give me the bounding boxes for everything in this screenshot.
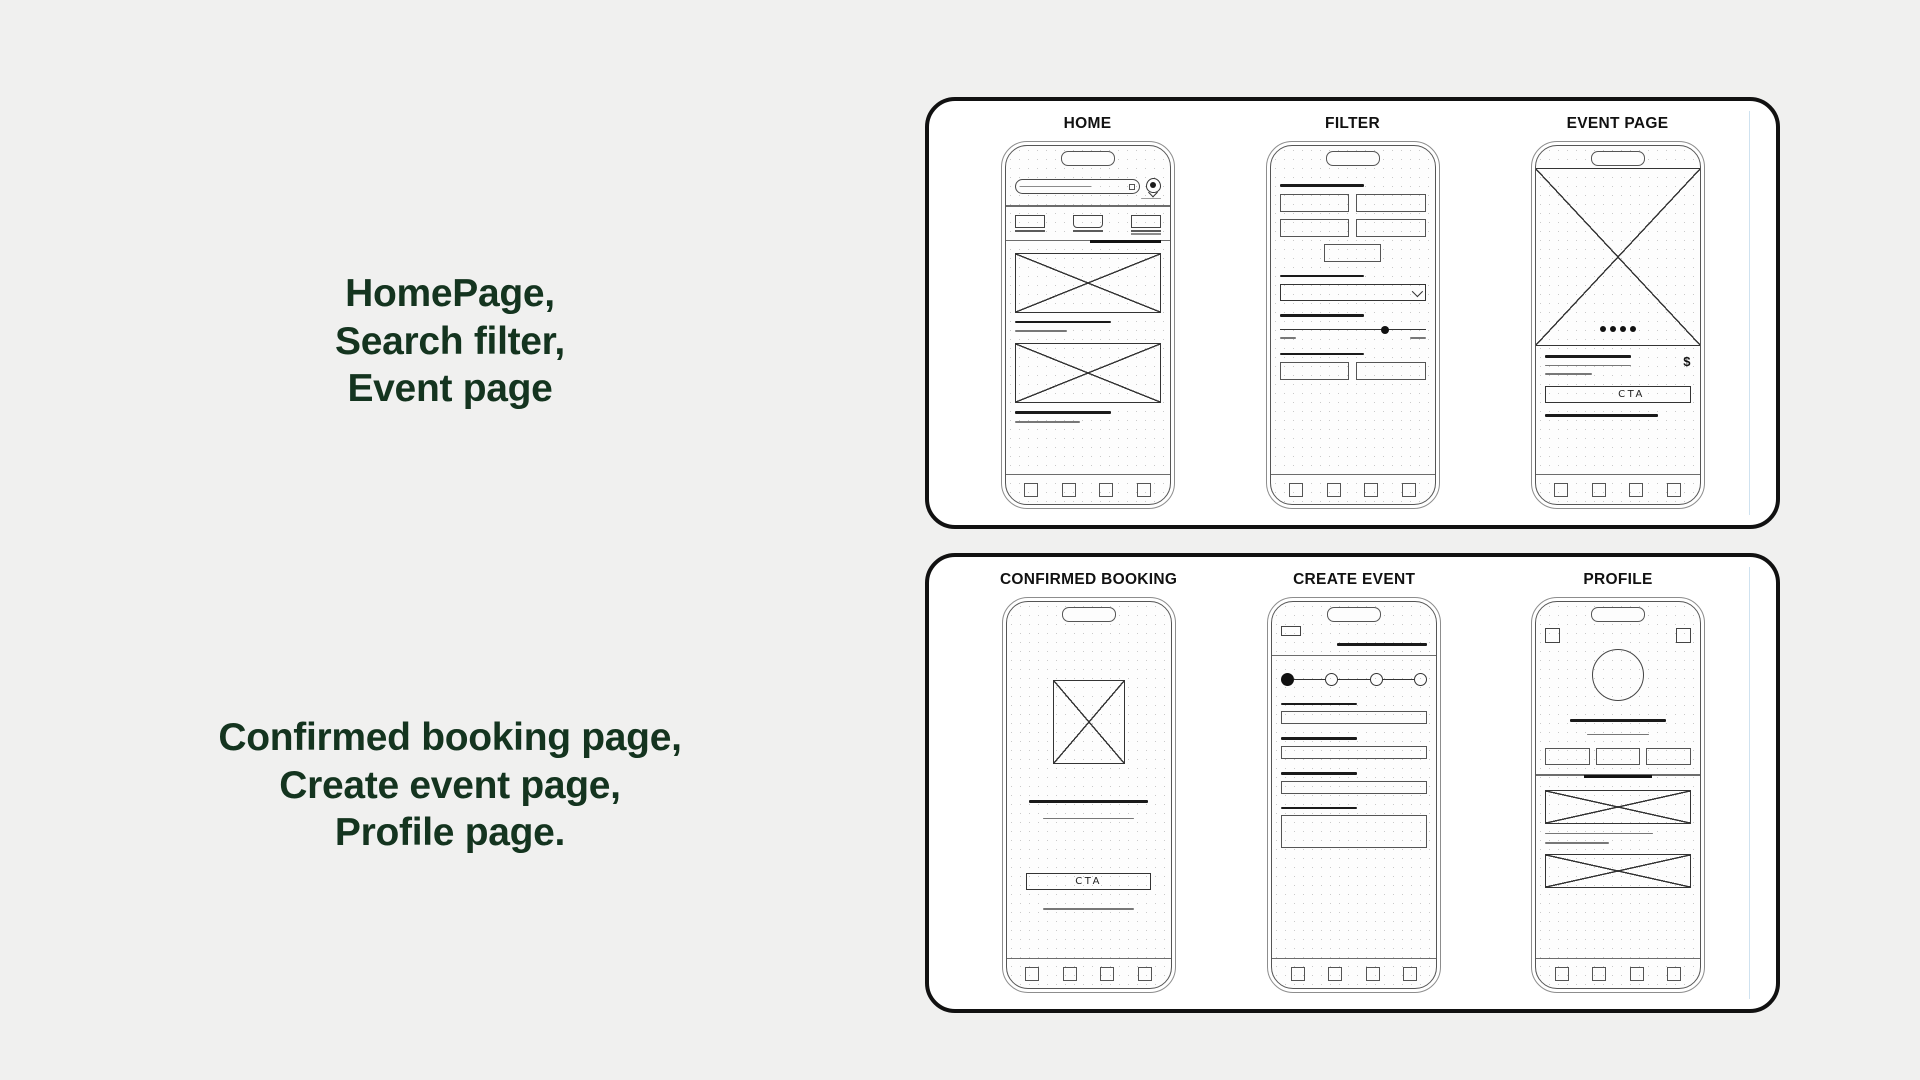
filter-actions	[1280, 362, 1426, 380]
phone-mockup-filter	[1266, 141, 1440, 509]
frame-event-page: EVENT PAGE	[1531, 115, 1705, 509]
frame-title: EVENT PAGE	[1567, 115, 1669, 133]
stat-box[interactable]	[1545, 748, 1590, 765]
field-label	[1281, 772, 1357, 775]
profile-tab-icon[interactable]	[1667, 967, 1681, 981]
carousel-dot[interactable]	[1630, 326, 1636, 332]
bottom-tabbar	[1006, 474, 1170, 504]
image-placeholder	[1536, 168, 1700, 346]
category-row	[1015, 215, 1161, 235]
image-placeholder	[1015, 343, 1161, 403]
category-label	[1015, 230, 1045, 232]
list-item[interactable]	[1545, 790, 1691, 845]
search-tab-icon[interactable]	[1592, 483, 1606, 497]
image-placeholder	[1545, 854, 1691, 888]
wireframe-panel-bottom: CONFIRMED BOOKING CTA	[925, 553, 1780, 1013]
carousel-dots[interactable]	[1536, 326, 1700, 332]
filter-heading	[1280, 275, 1365, 278]
chevron-down-icon	[1411, 286, 1422, 297]
frame-title: HOME	[1064, 115, 1112, 133]
location-pin-icon[interactable]	[1146, 178, 1161, 195]
chip-row	[1280, 219, 1426, 237]
cta-button[interactable]: CTA	[1026, 873, 1152, 890]
home-tab-icon[interactable]	[1555, 967, 1569, 981]
stepper-step[interactable]	[1325, 673, 1338, 686]
divider	[1272, 655, 1436, 656]
list-item[interactable]	[1545, 854, 1691, 888]
caption-line: Create event page,	[0, 762, 900, 810]
bookings-tab-icon[interactable]	[1630, 967, 1644, 981]
phone-notch	[1061, 151, 1115, 166]
bottom-tabbar	[1272, 958, 1436, 988]
phone-notch	[1327, 607, 1381, 622]
filter-dropdown[interactable]	[1280, 284, 1426, 301]
back-button[interactable]	[1281, 626, 1301, 636]
home-tab-icon[interactable]	[1291, 967, 1305, 981]
settings-icon[interactable]	[1545, 628, 1560, 643]
phone-notch	[1591, 151, 1645, 166]
search-placeholder-line	[1020, 186, 1091, 188]
stepper-step[interactable]	[1370, 673, 1383, 686]
active-category-underline	[1090, 240, 1160, 243]
phone-notch	[1062, 607, 1116, 622]
filter-chip[interactable]	[1356, 219, 1426, 237]
search-tab-icon[interactable]	[1327, 483, 1341, 497]
list-item[interactable]	[1015, 343, 1161, 422]
caption-line: Event page	[0, 365, 900, 413]
home-tab-icon[interactable]	[1025, 967, 1039, 981]
stepper-step[interactable]	[1414, 673, 1427, 686]
confirmation-meta	[1043, 818, 1134, 820]
chip-row	[1280, 194, 1426, 212]
phone-mockup-confirmed: CTA	[1002, 597, 1176, 993]
bottom-tabbar	[1536, 958, 1700, 988]
active-tab-indicator	[1584, 775, 1651, 778]
cta-row: CTA	[1545, 386, 1691, 403]
menu-icon[interactable]	[1676, 628, 1691, 643]
stepper-step-active[interactable]	[1281, 673, 1294, 686]
caption-line: Confirmed booking page,	[0, 714, 900, 762]
category-sublabel	[1131, 233, 1161, 235]
event-header-row: $	[1545, 355, 1691, 375]
bookings-tab-icon[interactable]	[1364, 483, 1378, 497]
frame-title: CONFIRMED BOOKING	[1000, 571, 1177, 589]
slider-min-label	[1280, 337, 1296, 339]
bookings-tab-icon[interactable]	[1099, 483, 1113, 497]
phone-notch	[1326, 151, 1380, 166]
frame-title: PROFILE	[1583, 571, 1652, 589]
frame-create-event: CREATE EVENT	[1267, 571, 1441, 993]
category-item[interactable]	[1073, 215, 1103, 235]
profile-name	[1570, 719, 1666, 722]
field-label	[1281, 703, 1357, 706]
category-label	[1073, 230, 1103, 232]
search-icon[interactable]	[1129, 184, 1135, 190]
list-item[interactable]	[1015, 253, 1161, 332]
search-tab-icon[interactable]	[1592, 967, 1606, 981]
stats-row	[1545, 748, 1691, 765]
profile-tab-icon[interactable]	[1138, 967, 1152, 981]
search-tab-icon[interactable]	[1063, 967, 1077, 981]
event-meta	[1545, 373, 1592, 375]
field-label	[1281, 807, 1357, 810]
text-input[interactable]	[1281, 746, 1427, 759]
wireframe-panel-top: HOME	[925, 97, 1780, 529]
caption-block-2: Confirmed booking page, Create event pag…	[0, 714, 900, 857]
page-title	[1337, 643, 1428, 646]
text-input[interactable]	[1281, 711, 1427, 724]
item-meta	[1545, 842, 1609, 844]
range-slider[interactable]	[1280, 325, 1426, 335]
caption-line: Profile page.	[0, 809, 900, 857]
card-meta	[1015, 330, 1068, 332]
phone-mockup-create-event	[1267, 597, 1441, 993]
event-title	[1545, 355, 1631, 358]
image-placeholder	[1053, 680, 1125, 764]
slider-knob[interactable]	[1381, 326, 1389, 334]
profile-header-row	[1545, 628, 1691, 643]
filter-heading	[1280, 184, 1365, 187]
bottom-tabbar	[1271, 474, 1435, 504]
profile-tab-icon[interactable]	[1403, 967, 1417, 981]
filter-heading	[1280, 353, 1365, 356]
text-input[interactable]	[1281, 781, 1427, 794]
search-tab-icon[interactable]	[1328, 967, 1342, 981]
item-title	[1545, 833, 1653, 835]
footer-note	[1043, 908, 1134, 910]
frame-profile: PROFILE	[1531, 571, 1705, 993]
category-label	[1131, 230, 1161, 232]
field-label	[1281, 737, 1357, 740]
phone-mockup-profile	[1531, 597, 1705, 993]
filter-chip[interactable]	[1280, 194, 1350, 212]
caption-line: HomePage,	[0, 270, 900, 318]
card-title	[1015, 321, 1111, 324]
divider	[1006, 205, 1170, 206]
progress-stepper	[1281, 673, 1427, 686]
filter-chip[interactable]	[1280, 219, 1350, 237]
card-title	[1015, 411, 1111, 414]
frame-title: FILTER	[1325, 115, 1380, 133]
bottom-tabbar	[1536, 474, 1700, 504]
phone-mockup-event: $ CTA	[1531, 141, 1705, 509]
bookings-tab-icon[interactable]	[1366, 967, 1380, 981]
caption-line: Search filter,	[0, 318, 900, 366]
cta-button[interactable]: CTA	[1574, 389, 1690, 400]
profile-tab-icon[interactable]	[1137, 483, 1151, 497]
price-label: $	[1683, 355, 1690, 368]
chip-row	[1280, 244, 1426, 262]
category-item[interactable]	[1015, 215, 1045, 235]
phone-notch	[1591, 607, 1645, 622]
home-tab-icon[interactable]	[1554, 483, 1568, 497]
frame-home: HOME	[1001, 115, 1175, 509]
footer-note	[1545, 414, 1659, 417]
stat-box[interactable]	[1596, 748, 1641, 765]
frame-confirmed-booking: CONFIRMED BOOKING CTA	[1000, 571, 1177, 993]
carousel-dot[interactable]	[1620, 326, 1626, 332]
apply-button[interactable]	[1356, 362, 1426, 380]
confirmation-media-row	[1016, 680, 1162, 764]
caption-column: HomePage, Search filter, Event page Conf…	[0, 0, 900, 1080]
reset-button[interactable]	[1280, 362, 1350, 380]
search-tab-icon[interactable]	[1062, 483, 1076, 497]
filter-chip[interactable]	[1356, 194, 1426, 212]
category-item[interactable]	[1131, 215, 1161, 235]
bottom-tabbar	[1007, 958, 1171, 988]
carousel-dot[interactable]	[1610, 326, 1616, 332]
event-meta	[1545, 365, 1631, 367]
card-meta	[1015, 421, 1081, 423]
search-input[interactable]	[1015, 179, 1140, 194]
confirmation-title	[1029, 800, 1149, 803]
location-label-line	[1141, 198, 1161, 199]
bookings-tab-icon[interactable]	[1629, 483, 1643, 497]
profile-tab-icon[interactable]	[1402, 483, 1416, 497]
carousel-dot[interactable]	[1600, 326, 1606, 332]
profile-tab-icon[interactable]	[1667, 483, 1681, 497]
frame-title: CREATE EVENT	[1293, 571, 1415, 589]
frame-filter: FILTER	[1266, 115, 1440, 509]
image-placeholder	[1545, 790, 1691, 824]
profile-subtitle	[1587, 734, 1648, 736]
filter-chip[interactable]	[1324, 244, 1381, 262]
slider-labels	[1280, 337, 1426, 339]
image-placeholder	[1015, 253, 1161, 313]
caption-block-1: HomePage, Search filter, Event page	[0, 270, 900, 413]
stat-box[interactable]	[1646, 748, 1691, 765]
home-tab-icon[interactable]	[1024, 483, 1038, 497]
textarea-input[interactable]	[1281, 815, 1427, 848]
home-tab-icon[interactable]	[1289, 483, 1303, 497]
avatar[interactable]	[1592, 649, 1644, 701]
filter-heading	[1280, 314, 1365, 317]
slider-max-label	[1410, 337, 1426, 339]
bookings-tab-icon[interactable]	[1100, 967, 1114, 981]
home-search-row	[1015, 178, 1161, 195]
phone-mockup-home	[1001, 141, 1175, 509]
